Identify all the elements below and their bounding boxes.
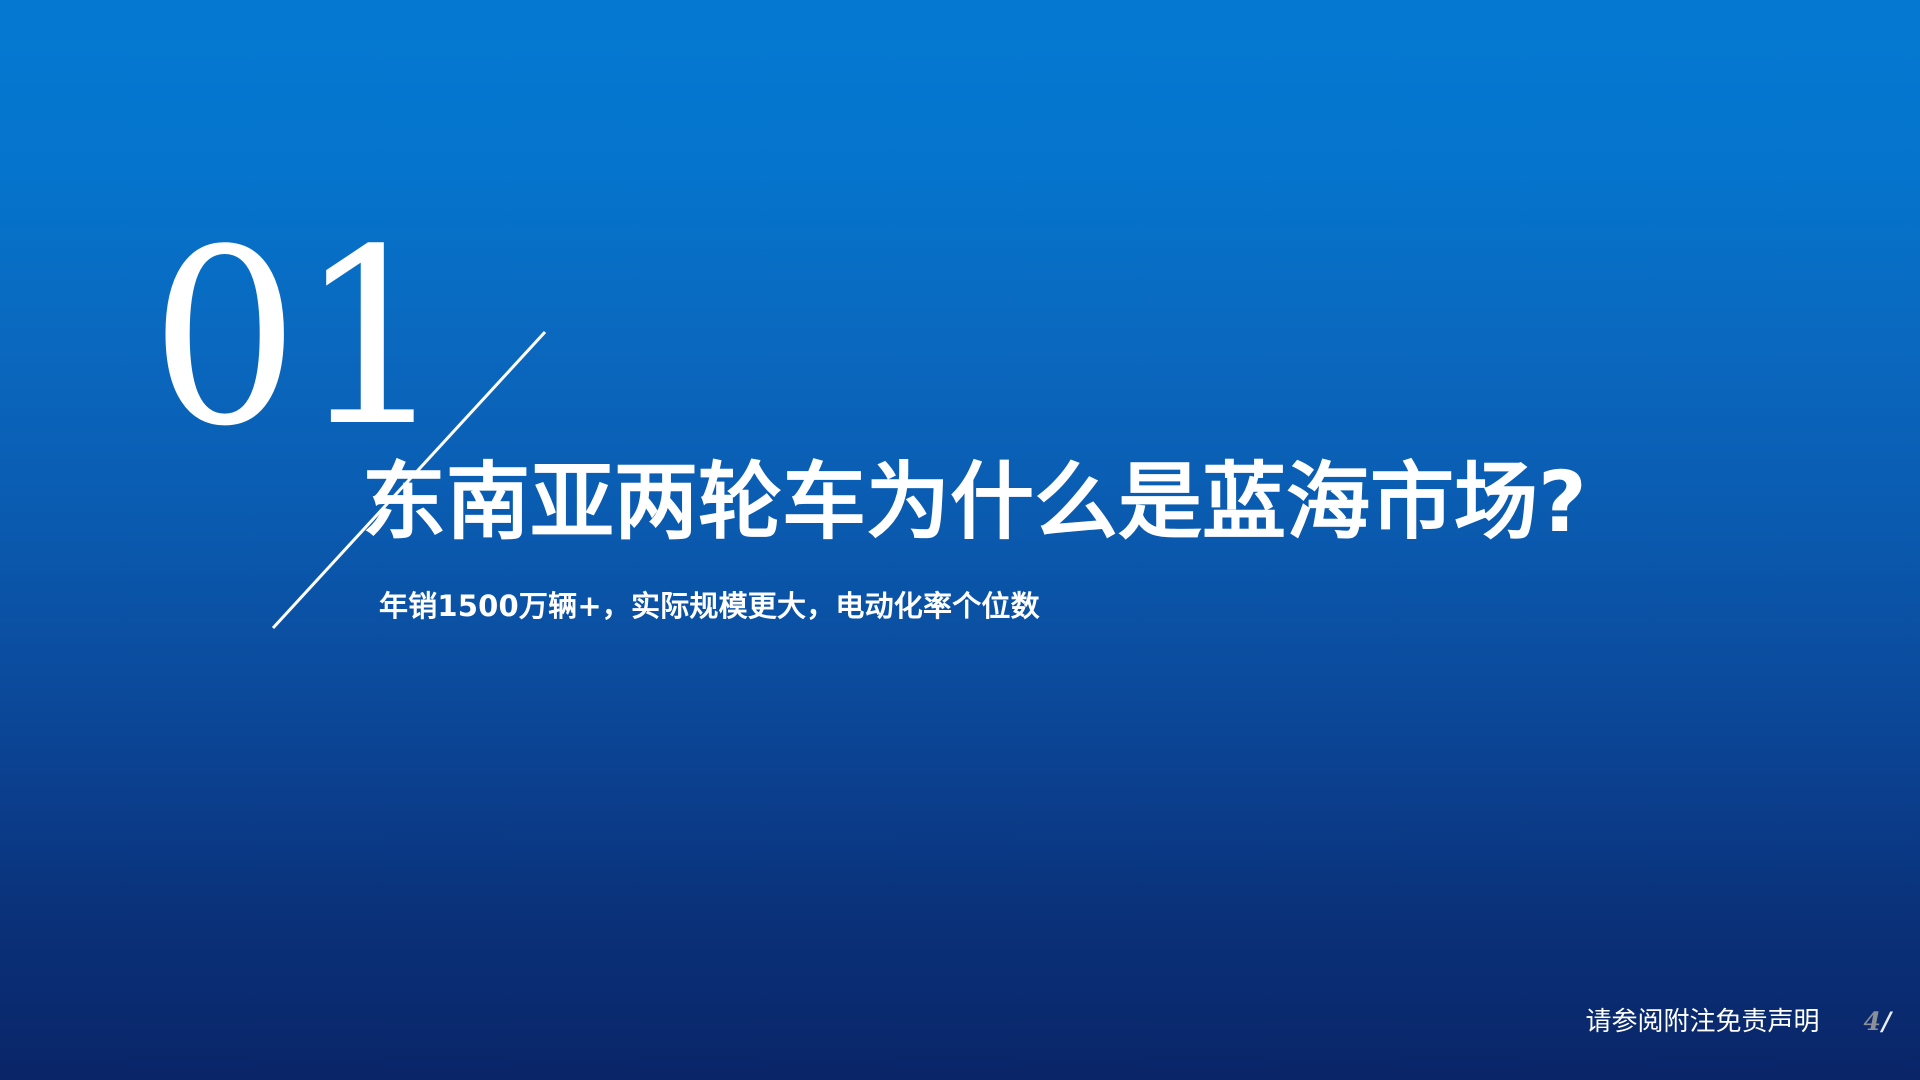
page-indicator: 4/ (1863, 1007, 1892, 1036)
page-title: 东南亚两轮车为什么是蓝海市场? (362, 458, 1920, 547)
page-number-separator: / (1882, 1007, 1892, 1036)
section-number: 01 (150, 218, 445, 453)
page-subtitle: 年销1500万辆+，实际规模更大，电动化率个位数 (362, 547, 1920, 625)
title-block: 东南亚两轮车为什么是蓝海市场? 年销1500万辆+，实际规模更大，电动化率个位数 (362, 458, 1920, 625)
section-number-text: 01 (150, 218, 445, 460)
presentation-slide: 01 东南亚两轮车为什么是蓝海市场? 年销1500万辆+，实际规模更大，电动化率… (0, 0, 1920, 1080)
disclaimer-note: 请参阅附注免责声明 (1585, 1001, 1819, 1038)
page-number-current: 4 (1863, 1007, 1881, 1036)
slide-footer: 请参阅附注免责声明 4/ (1585, 1001, 1892, 1038)
